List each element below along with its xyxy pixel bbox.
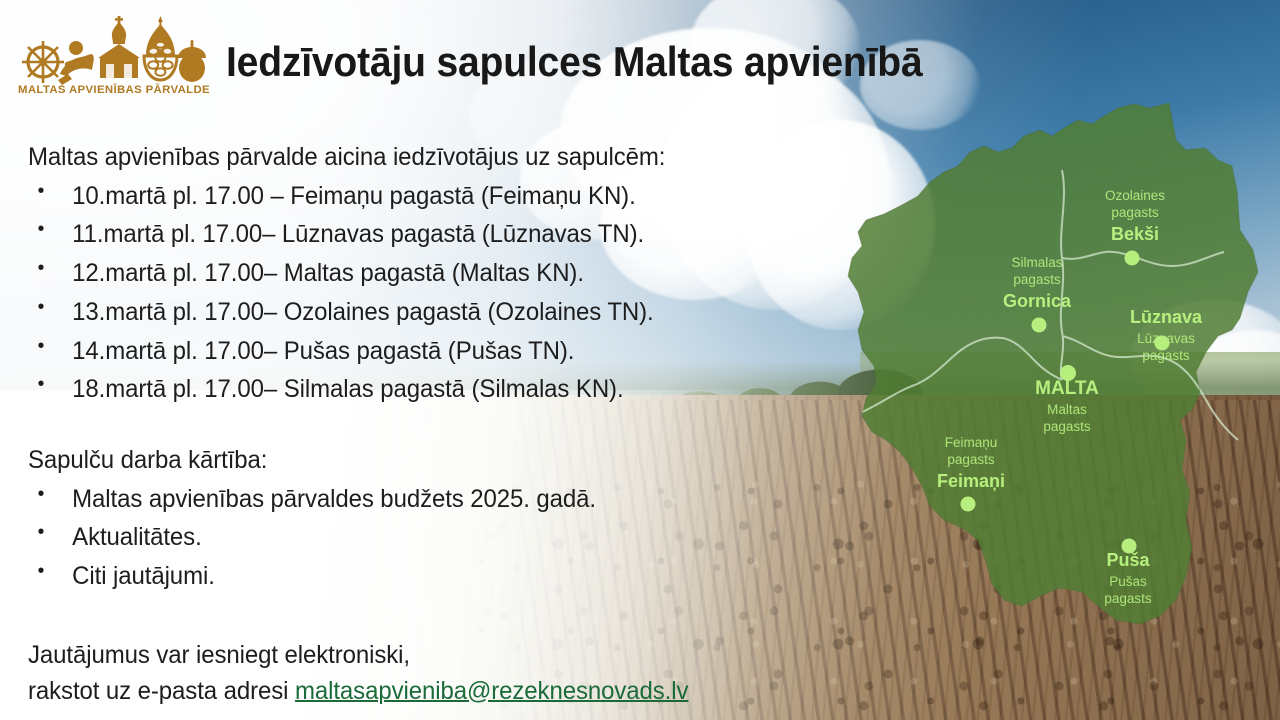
footer-section: Jautājumus var iesniegt elektroniski, ra… [28,638,928,709]
map-city-dot [1032,318,1047,333]
map-parish-label: pagasts [1142,348,1190,363]
meetings-lead: Maltas apvienības pārvalde aicina iedzīv… [28,141,854,175]
meeting-list-item: 14.martā pl. 17.00– Pušas pagastā (Pušas… [28,332,854,371]
map-city-label: Gornica [1003,291,1072,311]
acorn-icon [178,40,206,82]
meetings-list: 10.martā pl. 17.00 – Feimaņu pagastā (Fe… [28,177,888,410]
agenda-lead: Sapulču darba kārtība: [28,444,854,478]
meeting-list-item: 10.martā pl. 17.00 – Feimaņu pagastā (Fe… [28,177,854,216]
map-parish-label: pagasts [947,452,995,467]
agenda-list-item: Maltas apvienības pārvaldes budžets 2025… [28,480,854,519]
map-parish-label: pagasts [1043,419,1091,434]
map-parish-label: pagasts [1013,272,1061,287]
map-parish-label: Lūznavas [1137,331,1195,346]
map-parish-label: Maltas [1047,402,1087,417]
church-icon [98,16,140,78]
hop-cone-icon [144,16,177,80]
agenda-list: Maltas apvienības pārvaldes budžets 2025… [28,480,888,596]
page-title: Iedzīvotāju sapulces Maltas apvienībā [226,38,922,86]
agenda-list-item: Citi jautājumi. [28,557,854,596]
footer-line-1: Jautājumus var iesniegt elektroniski, [28,638,892,674]
map-city-label: Bekši [1111,224,1159,244]
map-parish-label: Pušas [1109,574,1147,589]
map-city-label: Puša [1106,550,1150,570]
logo-caption: MALTAS APVIENĪBAS PĀRVALDE [18,84,210,96]
map-parish-label: pagasts [1111,205,1159,220]
meeting-list-item: 18.martā pl. 17.00– Silmalas pagastā (Si… [28,370,854,409]
agenda-section: Sapulču darba kārtība: Maltas apvienības… [28,444,888,596]
footer-line-2: rakstot uz e-pasta adresi maltasapvienib… [28,674,892,710]
agenda-list-item: Aktualitātes. [28,518,854,557]
gear-icon [22,41,64,83]
map-city-label: Feimaņi [937,471,1005,491]
meeting-list-item: 13.martā pl. 17.00– Ozolaines pagastā (O… [28,293,854,332]
map-city-label: MALTA [1035,378,1099,399]
footer-line-2-prefix: rakstot uz e-pasta adresi [28,677,295,705]
map-parish-label: Feimaņu [945,435,998,450]
map-parish-label: pagasts [1104,591,1152,606]
map-parish-label: Silmalas [1011,255,1062,270]
email-link[interactable]: maltasapvieniba@rezeknesnovads.lv [295,677,688,705]
meeting-list-item: 11.martā pl. 17.00– Lūznavas pagastā (Lū… [28,215,854,254]
map-city-dot [1125,251,1140,266]
slide-canvas: BekšiOzolainespagastsGornicaSilmalaspaga… [0,0,1280,720]
map-city-dot [961,497,976,512]
map-parish-label: Ozolaines [1105,188,1165,203]
map-city-label: Lūznava [1130,307,1203,327]
meeting-list-item: 12.martā pl. 17.00– Maltas pagastā (Malt… [28,254,854,293]
meetings-section: Maltas apvienības pārvalde aicina iedzīv… [28,141,888,409]
